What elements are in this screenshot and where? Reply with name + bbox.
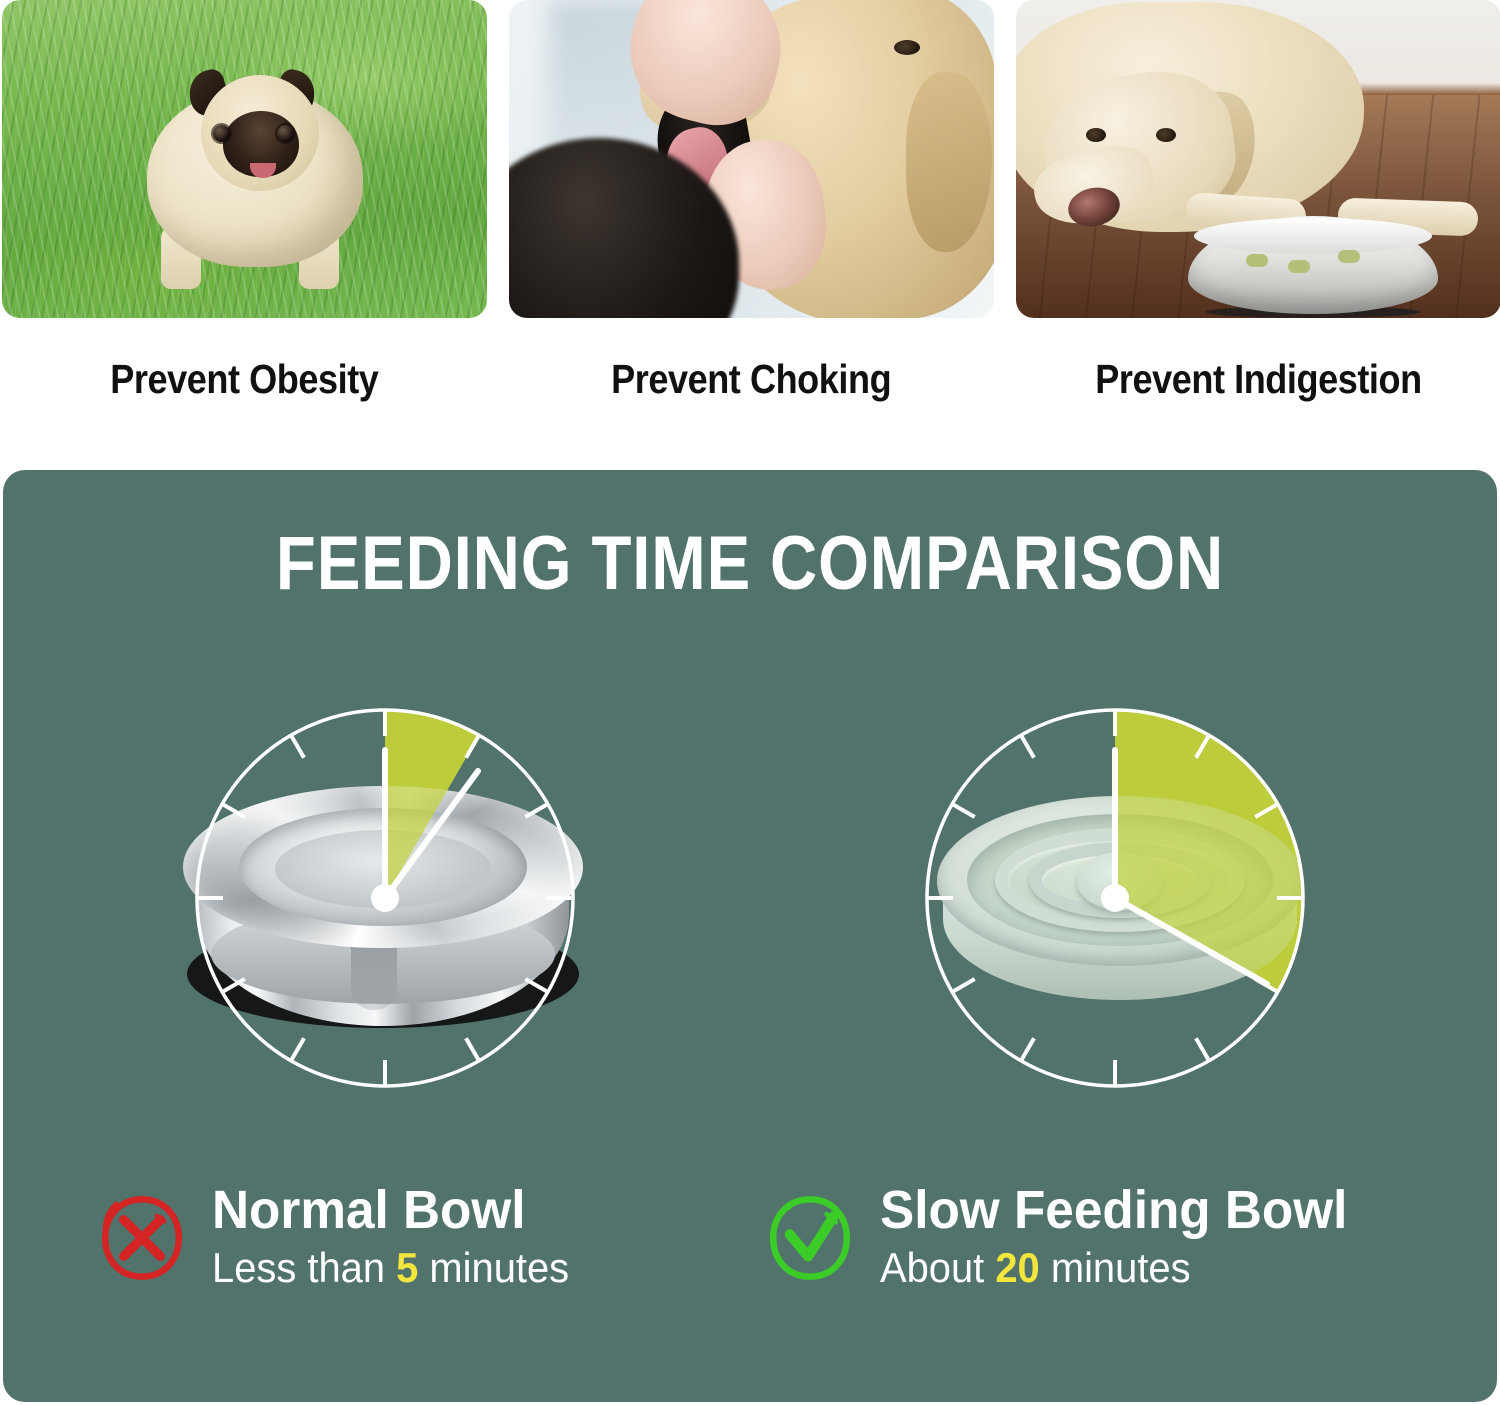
result-text-slow: Slow Feeding Bowl About 20 minutes xyxy=(880,1182,1372,1293)
pug-eye-left xyxy=(213,125,230,142)
clock-face-slow xyxy=(895,678,1335,1118)
panel-title: FEEDING TIME COMPARISON xyxy=(108,520,1393,607)
pug-illustration xyxy=(129,59,379,309)
benefit-item-indigestion: Prevent Indigestion xyxy=(1016,0,1500,440)
result-sub-prefix-slow: About xyxy=(880,1244,995,1291)
kibble-piece xyxy=(1338,250,1360,263)
result-subtitle-normal: Less than 5 minutes xyxy=(212,1243,569,1293)
photo-dog-choking-exam xyxy=(509,0,994,318)
result-slow-bowl: Slow Feeding Bowl About 20 minutes xyxy=(764,1182,1404,1293)
feeding-time-comparison-panel: FEEDING TIME COMPARISON xyxy=(3,470,1497,1402)
cross-mark-icon xyxy=(96,1192,188,1284)
result-sub-value-normal: 5 xyxy=(396,1244,418,1291)
photo-lethargic-dog-by-bowl xyxy=(1016,0,1500,318)
result-sub-suffix-slow: minutes xyxy=(1040,1244,1191,1291)
result-sub-prefix-normal: Less than xyxy=(212,1244,396,1291)
benefits-strip: Prevent Obesity Prevent Choking xyxy=(0,0,1500,440)
kibble-piece xyxy=(1288,260,1310,273)
comparison-results-row: Normal Bowl Less than 5 minutes Slow Fee… xyxy=(3,1182,1497,1293)
photo-fat-pug-on-grass xyxy=(2,0,487,318)
result-text-normal: Normal Bowl Less than 5 minutes xyxy=(212,1182,588,1293)
benefit-caption-indigestion: Prevent Indigestion xyxy=(1095,356,1421,403)
retriever-eye xyxy=(894,40,920,55)
floor-food-bowl xyxy=(1188,216,1438,314)
bowl-rim xyxy=(1194,218,1432,254)
result-title-slow: Slow Feeding Bowl xyxy=(880,1182,1347,1239)
labrador-eye-right xyxy=(1156,128,1176,142)
result-normal-bowl: Normal Bowl Less than 5 minutes xyxy=(96,1182,656,1293)
clock-dials-row xyxy=(3,678,1497,1118)
pug-eye-right xyxy=(277,125,294,142)
labrador-eye-left xyxy=(1086,128,1106,142)
result-sub-suffix-normal: minutes xyxy=(418,1244,569,1291)
clock-dial-normal-bowl xyxy=(165,678,605,1118)
clock-face-normal xyxy=(165,678,605,1118)
kibble-piece xyxy=(1246,254,1268,267)
result-sub-value-slow: 20 xyxy=(995,1244,1039,1291)
infographic-root: Prevent Obesity Prevent Choking xyxy=(0,0,1500,1405)
check-mark-icon xyxy=(764,1192,856,1284)
clock-dial-slow-bowl xyxy=(895,678,1335,1118)
benefit-caption-obesity: Prevent Obesity xyxy=(110,356,378,403)
result-title-normal: Normal Bowl xyxy=(212,1182,569,1239)
benefit-item-choking: Prevent Choking xyxy=(509,0,994,440)
result-subtitle-slow: About 20 minutes xyxy=(880,1243,1347,1293)
benefit-item-obesity: Prevent Obesity xyxy=(2,0,487,440)
benefit-caption-choking: Prevent Choking xyxy=(611,356,891,403)
